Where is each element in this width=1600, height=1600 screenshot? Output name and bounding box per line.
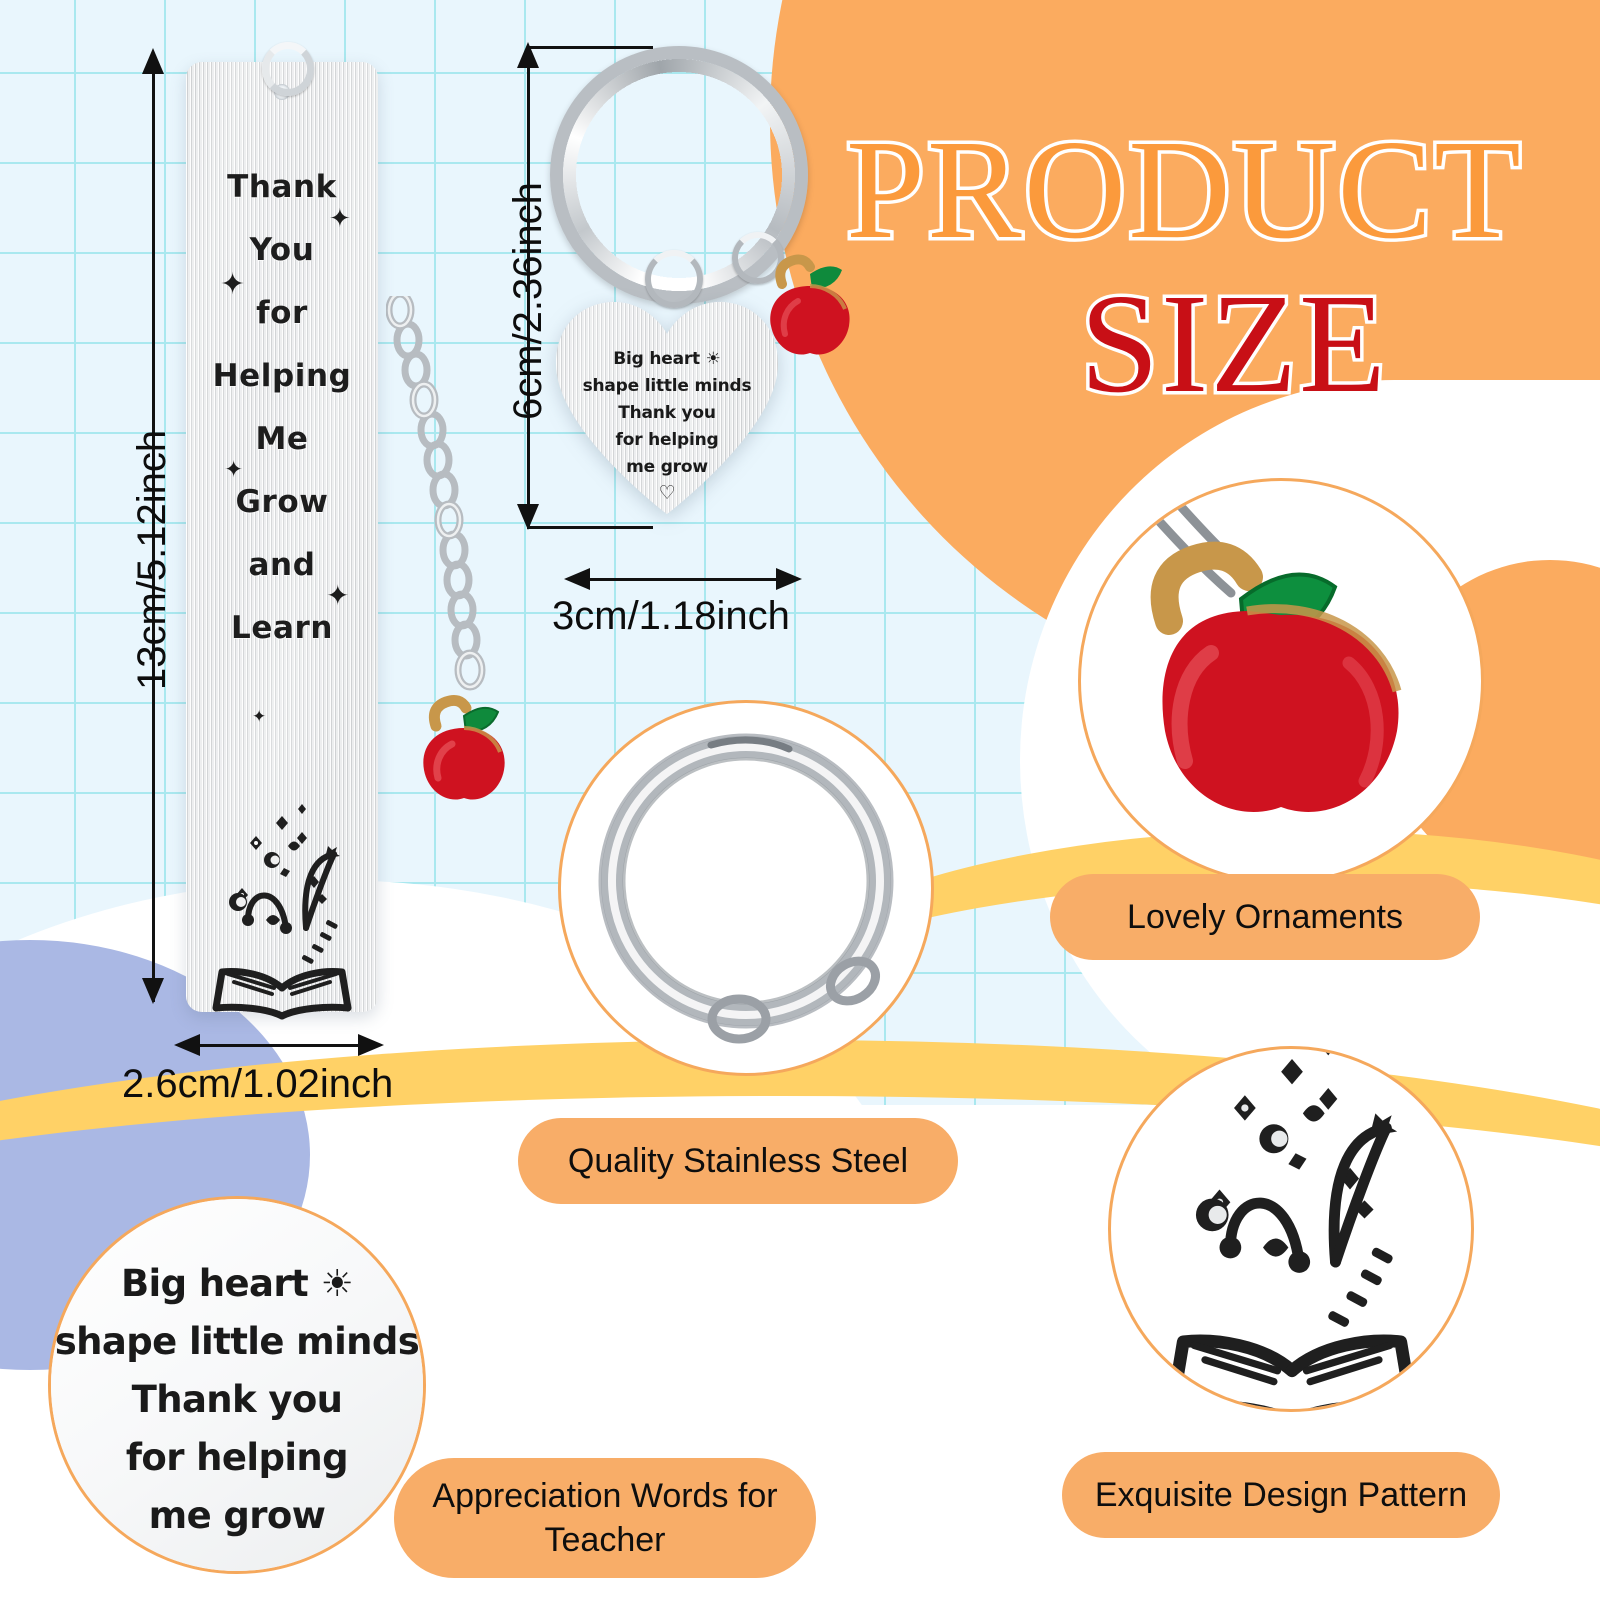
heart-outline-icon: ♡ [556,481,778,505]
apple-charm-icon [408,686,520,806]
bookmark-jump-ring [262,42,314,96]
bookmark-line-3: for [186,282,378,345]
keychain-width-line [586,578,782,581]
bookmark-body: Thank You for Helping Me Grow and Learn … [186,62,378,1012]
open-book-sparkles-motif [1147,1046,1437,1412]
closeup-pattern [1108,1046,1474,1412]
heart-closeup-line-5: me grow [48,1487,426,1545]
closeup-apple [1078,478,1484,884]
heart-pendant-text: Big heart ☀ shape little minds Thank you… [556,346,778,505]
arrow-left-icon [174,1034,200,1056]
infographic-canvas: PRODUCT SIZE Thank You for Helping Me Gr… [0,0,1600,1600]
keychain-width-label: 3cm/1.18inch [552,594,790,639]
arrow-up-icon [142,48,164,74]
heart-line-1: Big heart ☀ [556,346,778,373]
heart-closeup-line-3: Thank you [48,1371,426,1429]
badge-exquisite-design-pattern: Exquisite Design Pattern [1062,1452,1500,1538]
apple-closeup-icon [1081,481,1481,881]
keychain-height-label: 6cm/2.36inch [506,182,551,420]
bookmark-line-5: Me [186,408,378,471]
page-title-product: PRODUCT [846,118,1523,260]
arrow-down-icon [142,978,164,1004]
bookmark-width-label: 2.6cm/1.02inch [122,1062,393,1107]
sparkle-icon: ✦ [220,270,245,300]
heart-closeup-text: Big heart ☀ shape little minds Thank you… [48,1255,426,1545]
badge-lovely-ornaments: Lovely Ornaments [1050,874,1480,960]
open-book-sparkles-motif [202,802,362,1022]
sun-icon: ☀ [706,349,721,369]
arrow-left-icon [564,568,590,590]
arrow-right-icon [776,568,802,590]
sparkle-icon: ✦ [326,582,349,610]
bookmark-line-4: Helping [186,345,378,408]
keychain-bottom-tick [527,526,653,529]
sun-icon: ☀ [320,1262,353,1305]
arrow-right-icon [358,1034,384,1056]
heart-closeup-line-1: Big heart ☀ [48,1255,426,1313]
heart-line-5: me grow [556,454,778,481]
sparkle-icon: ✦ [224,458,243,481]
keychain-top-tick [527,46,653,49]
heart-closeup-line-2: shape little minds [48,1313,426,1371]
sparkle-icon: ✦ [252,708,266,725]
heart-closeup-line-4: for helping [48,1429,426,1487]
arrow-down-icon [517,504,539,530]
badge-appreciation-words-for-teacher: Appreciation Words for Teacher [394,1458,816,1578]
bookmark-height-label: 13cm/5.12inch [130,430,175,690]
connector-ring [645,250,703,308]
heart-line-2: shape little minds [556,373,778,400]
bookmark-width-line [196,1044,364,1047]
sparkle-icon: ✦ [329,205,351,231]
badge-quality-stainless-steel: Quality Stainless Steel [518,1118,958,1204]
bookmark-line-6: Grow [186,471,378,534]
heart-line-3: Thank you [556,400,778,427]
arrow-up-icon [517,42,539,68]
closeup-heart-text: Big heart ☀ shape little minds Thank you… [48,1196,426,1574]
heart-line-4: for helping [556,427,778,454]
split-ring-icon [561,703,931,1073]
page-title-size: SIZE [1080,272,1388,414]
closeup-keyring [558,700,934,1076]
heart-pendant: Big heart ☀ shape little minds Thank you… [556,302,778,514]
